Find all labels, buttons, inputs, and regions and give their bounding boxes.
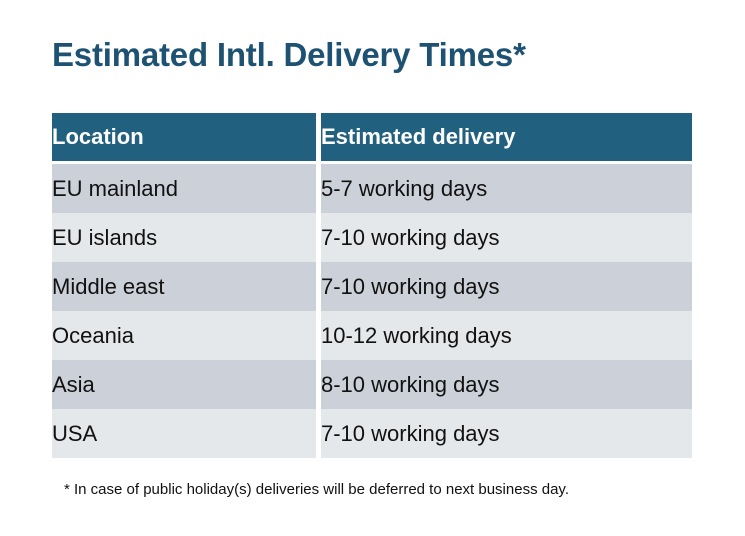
cell-location: EU mainland [52,164,316,213]
cell-delivery: 7-10 working days [321,213,692,262]
table-row: EU mainland 5-7 working days [52,164,692,213]
table-header-row: Location Estimated delivery [52,113,692,161]
cell-delivery: 10-12 working days [321,311,692,360]
footnote-text: * In case of public holiday(s) deliverie… [64,481,569,498]
cell-delivery: 8-10 working days [321,360,692,409]
delivery-times-table: Location Estimated delivery EU mainland … [52,113,692,458]
delivery-times-page: Estimated Intl. Delivery Times* Location… [0,0,745,536]
cell-location: USA [52,409,316,458]
table-body: EU mainland 5-7 working days EU islands … [52,161,692,458]
table-row: Middle east 7-10 working days [52,262,692,311]
cell-location: EU islands [52,213,316,262]
cell-delivery: 7-10 working days [321,409,692,458]
cell-location: Oceania [52,311,316,360]
cell-delivery: 5-7 working days [321,164,692,213]
table-header: Location Estimated delivery [52,113,692,161]
column-header-estimated-delivery: Estimated delivery [321,113,692,161]
cell-delivery: 7-10 working days [321,262,692,311]
page-title: Estimated Intl. Delivery Times* [52,36,526,74]
table-row: EU islands 7-10 working days [52,213,692,262]
table-row: Oceania 10-12 working days [52,311,692,360]
table-row: Asia 8-10 working days [52,360,692,409]
column-header-location: Location [52,113,316,161]
table-row: USA 7-10 working days [52,409,692,458]
cell-location: Asia [52,360,316,409]
cell-location: Middle east [52,262,316,311]
